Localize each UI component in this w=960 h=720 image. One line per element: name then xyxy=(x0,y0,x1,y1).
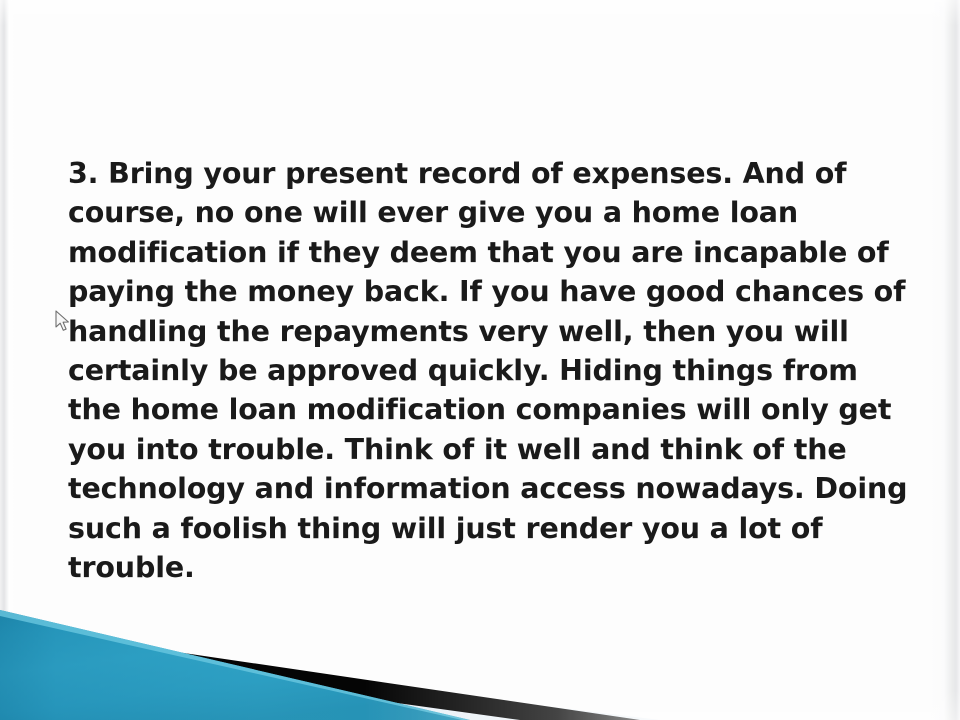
slide-content-block: 3. Bring your present record of expenses… xyxy=(68,154,913,587)
body-paragraph: 3. Bring your present record of expenses… xyxy=(68,154,913,587)
slide-canvas: 3. Bring your present record of expenses… xyxy=(0,0,960,720)
